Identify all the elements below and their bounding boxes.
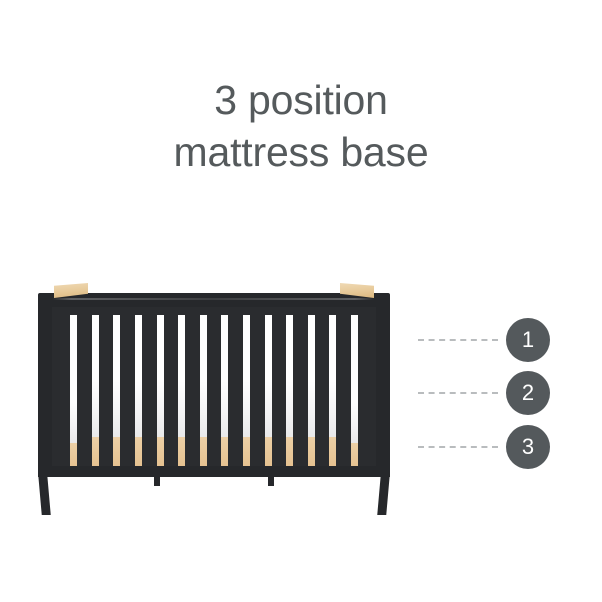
crib-leg-left: [38, 475, 50, 515]
mattress-surface: [157, 381, 164, 437]
slat-gap-open-area: [157, 315, 164, 381]
slat-gap-open-area: [200, 315, 207, 381]
mattress-surface: [113, 381, 120, 437]
callout-badge-1[interactable]: 1: [506, 318, 550, 362]
crib-slat-gap: [157, 315, 164, 473]
crib-post-left: [38, 305, 52, 473]
product-feature-graphic: 3 position mattress base 123: [0, 0, 602, 602]
crib-slat-gap: [308, 315, 315, 473]
slat-gap-open-area: [221, 315, 228, 381]
crib-slat-gap: [178, 315, 185, 473]
mattress-surface: [351, 403, 358, 443]
slat-gap-open-area: [135, 315, 142, 381]
mattress-surface: [265, 381, 272, 437]
page-title-line-2: mattress base: [0, 126, 602, 178]
callout-1[interactable]: 1: [418, 318, 550, 362]
callout-3[interactable]: 3: [418, 425, 550, 469]
crib-leg-right: [377, 475, 389, 515]
crib-foot-left: [154, 475, 160, 486]
crib-post-right: [376, 305, 390, 473]
slat-gap-open-area: [308, 315, 315, 381]
slat-gap-open-area: [243, 315, 250, 381]
mattress-surface: [200, 381, 207, 437]
mattress-surface: [286, 381, 293, 437]
callout-badge-3[interactable]: 3: [506, 425, 550, 469]
crib-illustration: [38, 283, 390, 515]
slat-gap-open-area: [351, 315, 358, 403]
slat-gap-open-area: [178, 315, 185, 381]
crib-slat-gap: [243, 315, 250, 473]
callout-badge-2[interactable]: 2: [506, 371, 550, 415]
mattress-surface: [308, 381, 315, 437]
crib-top-rail: [38, 293, 390, 307]
crib-slat-gap: [70, 315, 77, 473]
crib-slat-gap: [200, 315, 207, 473]
crib-slat-gap: [329, 315, 336, 473]
mattress-surface: [135, 381, 142, 437]
crib-slat-gap: [286, 315, 293, 473]
callout-2[interactable]: 2: [418, 371, 550, 415]
slat-gap-open-area: [92, 315, 99, 381]
crib-top-rail-sheen: [52, 298, 374, 300]
mattress-surface: [243, 381, 250, 437]
crib-slat-gap: [351, 315, 358, 473]
page-title-line-1: 3 position: [0, 74, 602, 126]
callout-dashed-line: [418, 339, 498, 341]
callout-dashed-line: [418, 446, 498, 448]
crib-slat-gap: [135, 315, 142, 473]
slat-gap-open-area: [265, 315, 272, 381]
mattress-surface: [178, 381, 185, 437]
crib-slat-gap: [113, 315, 120, 473]
callout-dashed-line: [418, 392, 498, 394]
slat-gap-open-area: [329, 315, 336, 381]
mattress-surface: [329, 381, 336, 437]
slat-gap-open-area: [113, 315, 120, 381]
page-title: 3 position mattress base: [0, 74, 602, 178]
crib-slat-panel: [52, 305, 376, 473]
slat-gap-open-area: [286, 315, 293, 381]
mattress-surface: [92, 381, 99, 437]
crib-slat-gap: [92, 315, 99, 473]
slat-gap-open-area: [70, 315, 77, 403]
crib-bottom-rail: [38, 466, 390, 477]
crib-slat-gap: [221, 315, 228, 473]
crib-slat-gap: [265, 315, 272, 473]
mattress-surface: [70, 403, 77, 443]
crib-foot-right: [268, 475, 274, 486]
mattress-surface: [221, 381, 228, 437]
